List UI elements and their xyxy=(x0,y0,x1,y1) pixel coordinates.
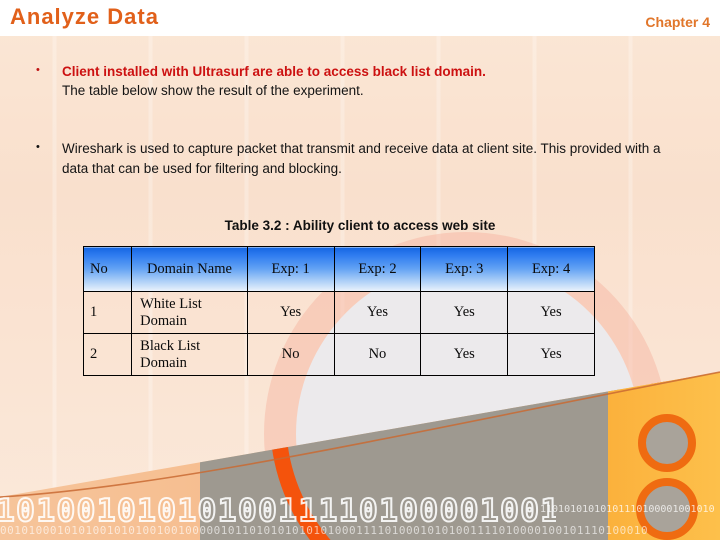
bullet-item-2-normal: Wireshark is used to capture packet that… xyxy=(62,139,670,179)
table-header-domain-name: Domain Name xyxy=(132,247,248,292)
bullet-item-2-body: Wireshark is used to capture packet that… xyxy=(0,139,720,179)
binary-decoration-small: 0010100010101001010100100100000101101010… xyxy=(0,524,720,538)
cell-name: Black List Domain xyxy=(132,334,248,376)
cell-exp-1: Yes xyxy=(247,292,334,334)
bullet-item-1-emphasis: Client installed with Ultrasurf are able… xyxy=(62,62,664,81)
table-header-exp-4: Exp: 4 xyxy=(508,247,595,292)
cell-exp-2: Yes xyxy=(334,292,421,334)
cell-name: White List Domain xyxy=(132,292,248,334)
binary-decoration-large: 1010010101010011110100001001011101001 0 xyxy=(0,494,556,528)
cell-exp-2: No xyxy=(334,334,421,376)
bullet-marker-icon: • xyxy=(36,65,40,76)
bullet-item-1-body: Client installed with Ultrasurf are able… xyxy=(0,62,720,101)
slide-canvas: 1010010101010011110100001001011101001 0 … xyxy=(0,0,720,540)
results-table: No Domain Name Exp: 1 Exp: 2 Exp: 3 Exp:… xyxy=(83,246,595,376)
table-row: 2 Black List Domain No No Yes Yes xyxy=(84,334,595,376)
cell-exp-4: Yes xyxy=(508,292,595,334)
cell-exp-1: No xyxy=(247,334,334,376)
bullet-marker-icon: • xyxy=(36,142,40,153)
cell-no: 1 xyxy=(84,292,132,334)
decorative-ring-upper-icon xyxy=(638,414,696,472)
cell-no: 2 xyxy=(84,334,132,376)
table-header-exp-1: Exp: 1 xyxy=(247,247,334,292)
table-row: 1 White List Domain Yes Yes Yes Yes xyxy=(84,292,595,334)
table-header-no: No xyxy=(84,247,132,292)
cell-exp-4: Yes xyxy=(508,334,595,376)
page-title: Analyze Data xyxy=(10,4,159,30)
table-header-row: No Domain Name Exp: 1 Exp: 2 Exp: 3 Exp:… xyxy=(84,247,595,292)
bullet-list: • Client installed with Ultrasurf are ab… xyxy=(0,62,720,185)
bullet-item-1-normal: The table below show the result of the e… xyxy=(62,81,664,101)
table-caption: Table 3.2 : Ability client to access web… xyxy=(0,218,720,233)
table-header-exp-2: Exp: 2 xyxy=(334,247,421,292)
binary-decoration-medium: 110101010101011101000010010101101000100 xyxy=(540,503,715,517)
bullet-item-1: • Client installed with Ultrasurf are ab… xyxy=(0,62,720,101)
cell-exp-3: Yes xyxy=(421,292,508,334)
chapter-label: Chapter 4 xyxy=(645,14,710,30)
bullet-item-2: • Wireshark is used to capture packet th… xyxy=(0,139,720,179)
table-header-exp-3: Exp: 3 xyxy=(421,247,508,292)
cell-exp-3: Yes xyxy=(421,334,508,376)
